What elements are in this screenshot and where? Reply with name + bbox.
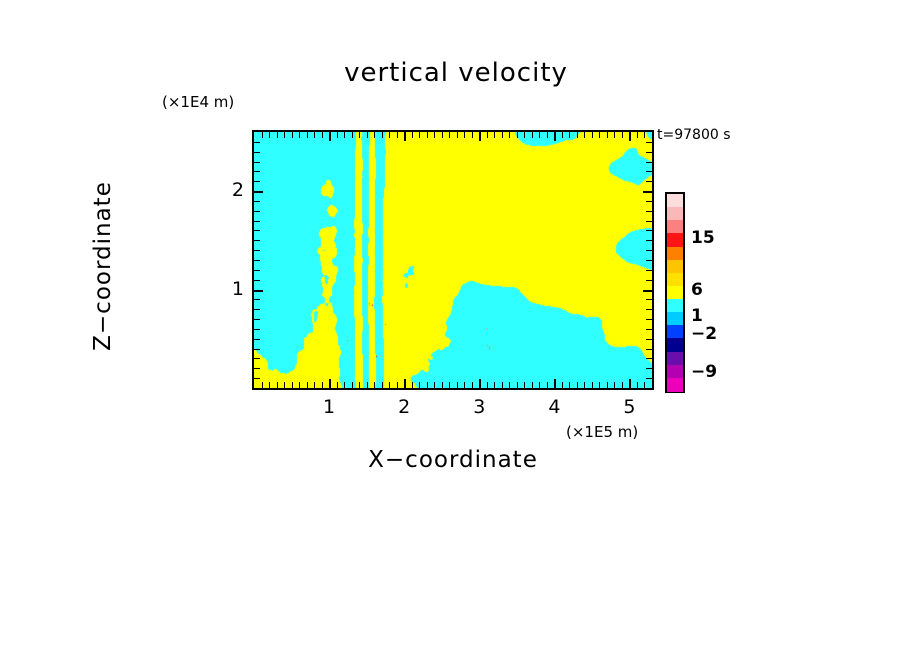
y-tick-left [254, 280, 260, 281]
x-tick-top [262, 132, 263, 138]
y-tick-right [646, 378, 652, 379]
y-tick-right [646, 299, 652, 300]
x-axis-unit-label: (×1E5 m) [566, 423, 638, 441]
x-tick-bottom [629, 379, 631, 388]
x-tick-top [434, 132, 435, 138]
x-tick-bottom [547, 382, 548, 388]
y-tick-label: 2 [222, 179, 244, 201]
x-tick-top [464, 132, 465, 138]
x-tick-bottom [464, 382, 465, 388]
colorbar-tick-label: 1 [691, 306, 703, 326]
y-tick-right [646, 260, 652, 261]
x-tick-bottom [614, 382, 615, 388]
x-tick-top [322, 132, 323, 138]
x-tick-top [629, 132, 631, 141]
y-tick-right [646, 358, 652, 359]
x-tick-top [532, 132, 533, 138]
x-tick-top [539, 132, 540, 138]
y-tick-right [646, 329, 652, 330]
x-tick-top [449, 132, 450, 138]
x-tick-top [517, 132, 518, 138]
y-tick-right [646, 319, 652, 320]
x-tick-top [292, 132, 293, 138]
x-tick-bottom [337, 382, 338, 388]
y-tick-right [646, 171, 652, 172]
x-tick-top [329, 132, 331, 141]
y-tick-left [254, 358, 260, 359]
colorbar [665, 192, 685, 393]
x-tick-bottom [307, 382, 308, 388]
x-tick-bottom [449, 382, 450, 388]
x-tick-bottom [412, 382, 413, 388]
y-tick-right [646, 142, 652, 143]
y-tick-left [254, 329, 260, 330]
x-tick-top [284, 132, 285, 138]
x-tick-top [344, 132, 345, 138]
x-tick-bottom [584, 382, 585, 388]
chart-title: vertical velocity [256, 58, 656, 88]
x-tick-bottom [397, 382, 398, 388]
x-tick-top [502, 132, 503, 138]
x-tick-top [412, 132, 413, 138]
x-tick-bottom [419, 382, 420, 388]
y-tick-left [254, 299, 260, 300]
x-axis-title: X−coordinate [252, 447, 654, 473]
x-tick-bottom [374, 382, 375, 388]
x-tick-top [637, 132, 638, 138]
x-tick-bottom [599, 382, 600, 388]
x-tick-top [487, 132, 488, 138]
x-tick-top [367, 132, 368, 138]
y-tick-left [254, 211, 260, 212]
y-tick-right [646, 250, 652, 251]
y-tick-left [254, 201, 260, 202]
y-tick-left [254, 250, 260, 251]
x-tick-bottom [269, 382, 270, 388]
x-tick-bottom [404, 379, 406, 388]
figure-canvas: vertical velocity (×1E4 m) (×1E5 m) t=97… [0, 0, 904, 654]
y-tick-right [646, 230, 652, 231]
y-tick-right [643, 191, 652, 193]
x-tick-top [547, 132, 548, 138]
x-tick-top [397, 132, 398, 138]
colorbar-tick-label: 15 [691, 228, 715, 248]
y-tick-right [646, 339, 652, 340]
x-tick-bottom [292, 382, 293, 388]
y-axis-title: Z−coordinate [90, 116, 116, 416]
x-tick-top [509, 132, 510, 138]
x-tick-bottom [539, 382, 540, 388]
x-tick-label: 2 [389, 396, 419, 418]
y-tick-left [254, 152, 260, 153]
x-tick-top [644, 132, 645, 138]
x-tick-top [457, 132, 458, 138]
x-tick-bottom [607, 382, 608, 388]
y-tick-left [254, 368, 260, 369]
x-tick-top [562, 132, 563, 138]
y-tick-right [646, 221, 652, 222]
x-tick-top [524, 132, 525, 138]
x-tick-top [607, 132, 608, 138]
contour-plot-area [252, 130, 654, 390]
y-tick-left [254, 240, 260, 241]
y-tick-left [254, 270, 260, 271]
x-tick-bottom [554, 379, 556, 388]
x-tick-bottom [277, 382, 278, 388]
x-tick-bottom [509, 382, 510, 388]
x-tick-top [359, 132, 360, 138]
x-tick-top [494, 132, 495, 138]
x-tick-bottom [262, 382, 263, 388]
colorbar-tick-label: −2 [691, 324, 717, 344]
x-tick-bottom [494, 382, 495, 388]
x-tick-bottom [644, 382, 645, 388]
x-tick-top [652, 132, 653, 138]
x-tick-top [614, 132, 615, 138]
x-tick-top [599, 132, 600, 138]
colorbar-band [667, 378, 683, 392]
y-tick-left [254, 378, 260, 379]
y-tick-left [254, 339, 260, 340]
x-tick-top [314, 132, 315, 138]
x-tick-top [479, 132, 481, 141]
x-tick-top [352, 132, 353, 138]
x-tick-bottom [329, 379, 331, 388]
contour-field [254, 132, 652, 388]
x-tick-top [277, 132, 278, 138]
x-tick-bottom [344, 382, 345, 388]
x-tick-top [374, 132, 375, 138]
x-tick-bottom [299, 382, 300, 388]
x-tick-bottom [322, 382, 323, 388]
x-tick-label: 4 [539, 396, 569, 418]
y-tick-right [646, 240, 652, 241]
x-tick-bottom [532, 382, 533, 388]
colorbar-tick-label: 6 [691, 280, 703, 300]
x-tick-top [299, 132, 300, 138]
x-tick-bottom [592, 382, 593, 388]
x-tick-bottom [359, 382, 360, 388]
x-tick-top [472, 132, 473, 138]
x-tick-label: 1 [314, 396, 344, 418]
x-tick-bottom [367, 382, 368, 388]
x-tick-bottom [637, 382, 638, 388]
x-tick-bottom [389, 382, 390, 388]
x-tick-bottom [577, 382, 578, 388]
y-tick-left [254, 191, 263, 193]
x-tick-bottom [382, 382, 383, 388]
x-tick-top [427, 132, 428, 138]
timestamp-annotation: t=97800 s [657, 127, 731, 143]
y-tick-left [254, 181, 260, 182]
y-tick-right [646, 280, 652, 281]
x-tick-bottom [569, 382, 570, 388]
x-tick-top [442, 132, 443, 138]
y-tick-left [254, 171, 260, 172]
x-tick-top [389, 132, 390, 138]
x-tick-top [554, 132, 556, 141]
x-tick-bottom [284, 382, 285, 388]
y-tick-left [254, 162, 260, 163]
y-tick-right [646, 201, 652, 202]
x-tick-top [577, 132, 578, 138]
x-tick-top [569, 132, 570, 138]
x-tick-bottom [502, 382, 503, 388]
x-tick-top [337, 132, 338, 138]
y-tick-right [646, 368, 652, 369]
y-tick-right [646, 349, 652, 350]
x-tick-label: 3 [464, 396, 494, 418]
y-tick-right [646, 270, 652, 271]
x-tick-bottom [652, 382, 653, 388]
y-tick-label: 1 [222, 278, 244, 300]
y-tick-right [643, 290, 652, 292]
x-tick-bottom [427, 382, 428, 388]
y-axis-unit-label: (×1E4 m) [162, 93, 234, 111]
colorbar-tick-label: −9 [691, 362, 717, 382]
x-tick-label: 5 [614, 396, 644, 418]
x-tick-top [269, 132, 270, 138]
x-tick-bottom [314, 382, 315, 388]
x-tick-bottom [442, 382, 443, 388]
y-tick-right [646, 211, 652, 212]
x-tick-top [584, 132, 585, 138]
x-tick-bottom [479, 379, 481, 388]
y-tick-left [254, 349, 260, 350]
y-tick-right [646, 162, 652, 163]
x-tick-top [307, 132, 308, 138]
x-tick-top [382, 132, 383, 138]
y-tick-left [254, 230, 260, 231]
x-tick-top [419, 132, 420, 138]
x-tick-top [404, 132, 406, 141]
x-tick-bottom [487, 382, 488, 388]
x-tick-bottom [562, 382, 563, 388]
y-tick-left [254, 260, 260, 261]
x-tick-bottom [517, 382, 518, 388]
x-tick-bottom [524, 382, 525, 388]
y-tick-left [254, 290, 263, 292]
y-tick-left [254, 319, 260, 320]
x-tick-bottom [457, 382, 458, 388]
y-tick-right [646, 309, 652, 310]
x-tick-bottom [472, 382, 473, 388]
y-tick-left [254, 142, 260, 143]
y-tick-right [646, 181, 652, 182]
y-tick-left [254, 221, 260, 222]
x-tick-bottom [352, 382, 353, 388]
x-tick-bottom [434, 382, 435, 388]
y-tick-left [254, 309, 260, 310]
x-tick-bottom [622, 382, 623, 388]
x-tick-top [622, 132, 623, 138]
y-tick-right [646, 152, 652, 153]
x-tick-top [592, 132, 593, 138]
